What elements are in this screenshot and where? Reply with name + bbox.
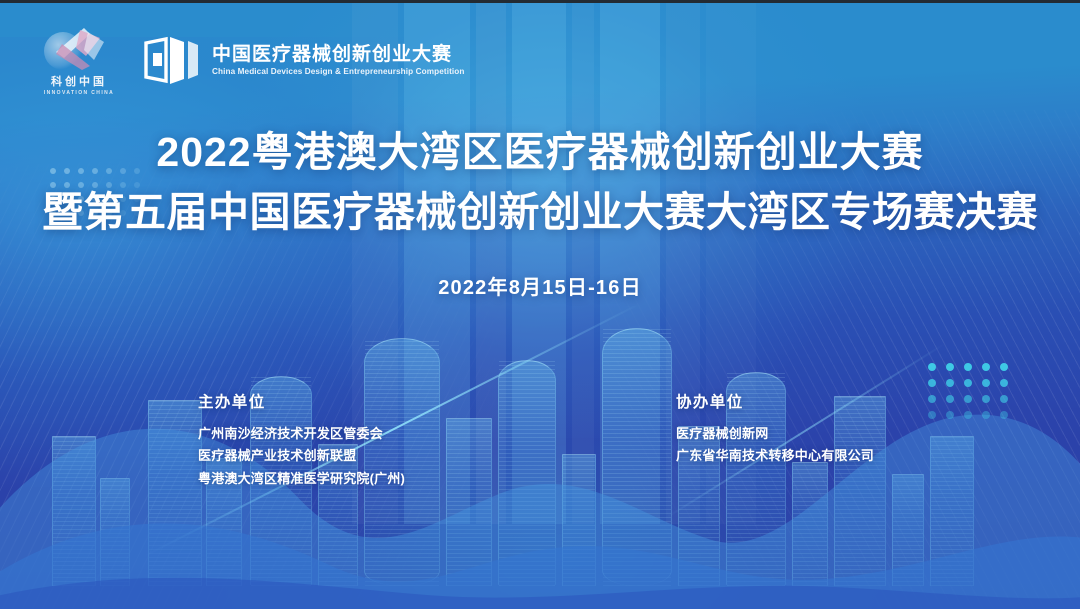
header-logos: 科创中国 INNOVATION CHINA 中国医疗器械创新创业大赛 China… <box>36 24 464 96</box>
competition-logo-en: China Medical Devices Design & Entrepren… <box>212 67 464 76</box>
cohost-item: 医疗器械创新网 <box>676 423 874 445</box>
top-hairline <box>0 0 1080 3</box>
innovation-china-logo: 科创中国 INNOVATION CHINA <box>36 24 122 96</box>
event-date: 2022年8月15日-16日 <box>0 271 1080 300</box>
innovation-china-cn-text: 科创中国 <box>36 76 122 88</box>
host-item: 医疗器械产业技术创新联盟 <box>198 445 405 467</box>
host-organizers: 主办单位 广州南沙经济技术开发区管委会 医疗器械产业技术创新联盟 粤港澳大湾区精… <box>198 390 405 490</box>
event-banner: 科创中国 INNOVATION CHINA 中国医疗器械创新创业大赛 China… <box>0 0 1080 609</box>
cohost-heading: 协办单位 <box>676 390 874 412</box>
main-title-line-2: 暨第五届中国医疗器械创新创业大赛大湾区专场赛决赛 <box>0 188 1080 236</box>
competition-logo-text: 中国医疗器械创新创业大赛 China Medical Devices Desig… <box>212 44 464 76</box>
innovation-china-bird-icon <box>50 26 106 72</box>
competition-logo-cn: 中国医疗器械创新创业大赛 <box>212 44 464 65</box>
bottom-wave-silhouette <box>0 390 1080 609</box>
competition-mark-icon <box>144 35 200 85</box>
innovation-china-en-text: INNOVATION CHINA <box>36 90 122 96</box>
cohost-item: 广东省华南技术转移中心有限公司 <box>676 445 874 467</box>
host-heading: 主办单位 <box>198 390 405 412</box>
title-block: 2022粤港澳大湾区医疗器械创新创业大赛 暨第五届中国医疗器械创新创业大赛大湾区… <box>0 128 1080 300</box>
right-dot-grid <box>928 363 1018 427</box>
host-item: 粤港澳大湾区精准医学研究院(广州) <box>198 468 405 490</box>
main-title-line-1: 2022粤港澳大湾区医疗器械创新创业大赛 <box>0 128 1080 176</box>
cohost-organizers: 协办单位 医疗器械创新网 广东省华南技术转移中心有限公司 <box>676 390 874 468</box>
host-item: 广州南沙经济技术开发区管委会 <box>198 423 405 445</box>
competition-logo: 中国医疗器械创新创业大赛 China Medical Devices Desig… <box>144 35 464 85</box>
